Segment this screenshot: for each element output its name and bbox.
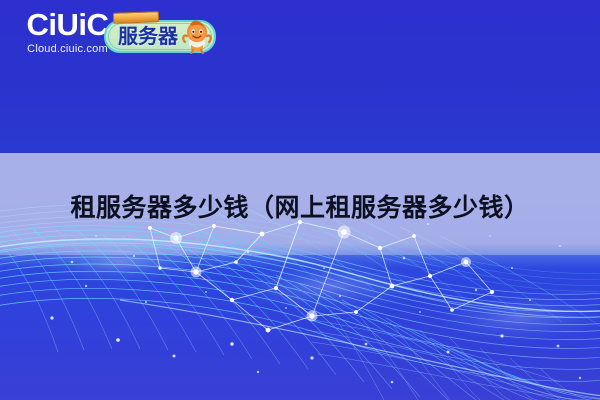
banner-image: CiUiC Cloud.ciuic.com 服务器 bbox=[0, 0, 600, 400]
background-band-bottom bbox=[0, 255, 600, 400]
brand-wordmark: CiUiC bbox=[20, 8, 115, 42]
badge-label: 服务器 bbox=[114, 25, 182, 49]
page-title: 租服务器多少钱（网上租服务器多少钱） bbox=[0, 193, 600, 223]
brand-logo[interactable]: CiUiC Cloud.ciuic.com bbox=[20, 8, 115, 56]
badge-ribbon-decoration bbox=[113, 11, 159, 24]
server-badge: 服务器 bbox=[104, 20, 216, 53]
orange-cartoon-mascot-icon bbox=[180, 18, 214, 54]
brand-domain: Cloud.ciuic.com bbox=[20, 42, 115, 56]
